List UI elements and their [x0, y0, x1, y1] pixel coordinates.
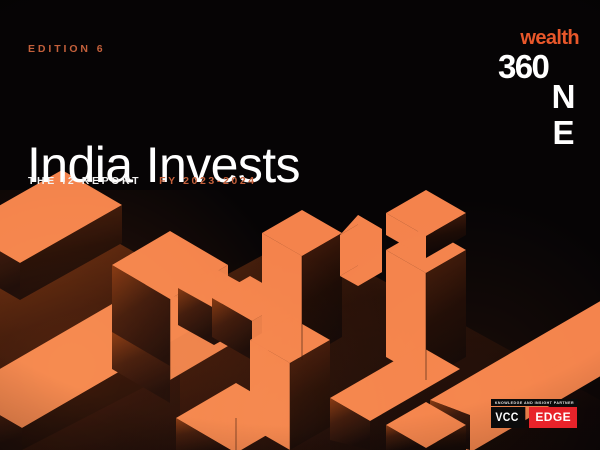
partner-logo-vccedge: KNOWLEDGE AND INSIGHT PARTNER VCC EDGE [491, 399, 578, 428]
edition-label: EDITION 6 [28, 43, 105, 55]
brand-logo-360-text: 360 [498, 50, 548, 83]
report-subline: THE i2 REPORTFY 2023-2024 [28, 175, 257, 187]
report-cover: EDITION 6 India Invests THE i2 REPORTFY … [0, 0, 600, 450]
brand-logo-360one: wealth 360 NE [496, 28, 582, 128]
fiscal-year-label: FY 2023-2024 [159, 175, 257, 187]
partner-lockup: VCC EDGE [491, 407, 578, 428]
partner-caption: KNOWLEDGE AND INSIGHT PARTNER [491, 399, 578, 406]
partner-vcc-text: VCC [491, 407, 525, 428]
brand-logo-one-vertical-text: NE [547, 78, 580, 150]
brand-logo-wealth-text: wealth [520, 28, 579, 48]
report-label: THE i2 REPORT [28, 175, 141, 187]
partner-edge-text: EDGE [529, 407, 577, 428]
cover-content: EDITION 6 India Invests THE i2 REPORTFY … [0, 0, 600, 450]
